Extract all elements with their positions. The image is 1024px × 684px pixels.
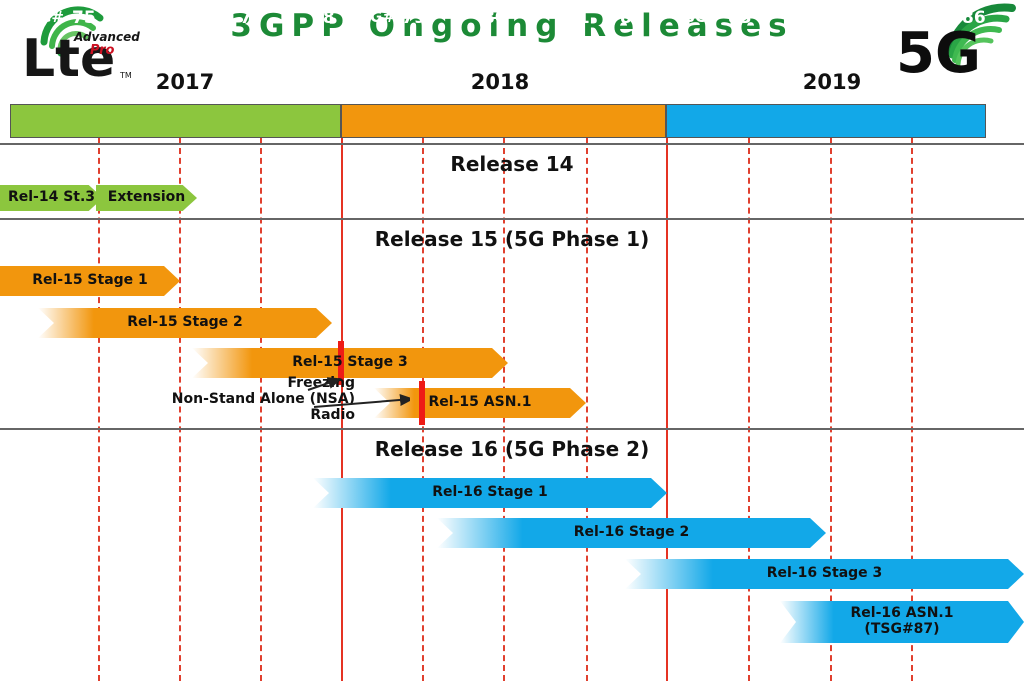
bar-rel14-stage3: Rel-14 St.3	[0, 185, 103, 211]
release-15-title: Release 15 (5G Phase 1)	[0, 227, 1024, 251]
bar-rel16-stage3-label: Rel-16 Stage 3	[767, 566, 883, 582]
release-15-divider	[0, 218, 1024, 220]
bar-rel16-stage1: Rel-16 Stage 1	[313, 478, 667, 508]
page-title: 3GPP Ongoing Releases	[0, 8, 1024, 44]
bar-rel14-extension-label: Extension	[108, 190, 185, 206]
bar-rel16-stage2-label: Rel-16 Stage 2	[574, 525, 690, 541]
tsg-meeting-75: 75	[72, 8, 96, 28]
tsg-meeting-78: 78	[311, 8, 335, 28]
bar-rel15-stage1-label: Rel-15 Stage 1	[32, 273, 148, 289]
year-label-2018: 2018	[471, 70, 529, 94]
year-label-2017: 2017	[156, 70, 214, 94]
tsg-meeting-85: 85	[902, 8, 926, 28]
bar-rel16-asn1-label: Rel-16 ASN.1 (TSG#87)	[851, 606, 954, 637]
bar-rel16-stage2: Rel-16 Stage 2	[437, 518, 826, 548]
tsg-prefix-label: TSG#	[674, 8, 720, 26]
bar-rel15-stage3-label: Rel-15 Stage 3	[292, 355, 408, 371]
tsg-band-2019	[666, 104, 986, 138]
tsg-band-2017	[10, 104, 341, 138]
bar-rel16-stage1-label: Rel-16 Stage 1	[432, 485, 548, 501]
tsg-meeting-80: 80	[483, 8, 507, 28]
diagram-canvas: Lte Advanced Pro TM 3GPP Ongoing Release…	[0, 0, 1024, 684]
bar-rel15-asn1-label: Rel-15 ASN.1	[429, 395, 532, 411]
tsg-meeting-83: 83	[728, 8, 752, 28]
tsg-meeting-76: 76	[155, 8, 179, 28]
annotation-arrows	[300, 365, 410, 425]
tsg-prefix-label: TSG#	[18, 8, 64, 26]
tsg-band-2018	[341, 104, 666, 138]
release-14-title: Release 14	[0, 152, 1024, 176]
tsg-meeting-82: 82	[620, 8, 644, 28]
tsg-meeting-84: 84	[808, 8, 832, 28]
svg-text:TM: TM	[119, 71, 132, 80]
bar-rel15-stage2-label: Rel-15 Stage 2	[127, 315, 243, 331]
bar-rel16-stage3: Rel-16 Stage 3	[625, 559, 1024, 589]
release-14-divider	[0, 143, 1024, 145]
tsg-meeting-81: 81	[566, 8, 590, 28]
tsg-meeting-79: 79	[402, 8, 426, 28]
bar-rel16-asn1: Rel-16 ASN.1 (TSG#87)	[780, 601, 1024, 643]
year-label-2019: 2019	[803, 70, 861, 94]
bar-rel15-stage1: Rel-15 Stage 1	[0, 266, 180, 296]
svg-text:Pro: Pro	[90, 43, 115, 58]
svg-text:5G: 5G	[896, 21, 981, 78]
tsg-meeting-77: 77	[240, 8, 264, 28]
release-16-title: Release 16 (5G Phase 2)	[0, 437, 1024, 461]
freeze-marker-asn1	[419, 381, 425, 425]
tsg-meeting-86: 86	[962, 8, 986, 28]
bar-rel14-extension: Extension	[96, 185, 197, 211]
bar-rel14-stage3-label: Rel-14 St.3	[8, 190, 95, 206]
tsg-prefix-label: TSG#	[349, 8, 395, 26]
release-16-divider	[0, 428, 1024, 430]
bar-rel15-stage2: Rel-15 Stage 2	[38, 308, 332, 338]
